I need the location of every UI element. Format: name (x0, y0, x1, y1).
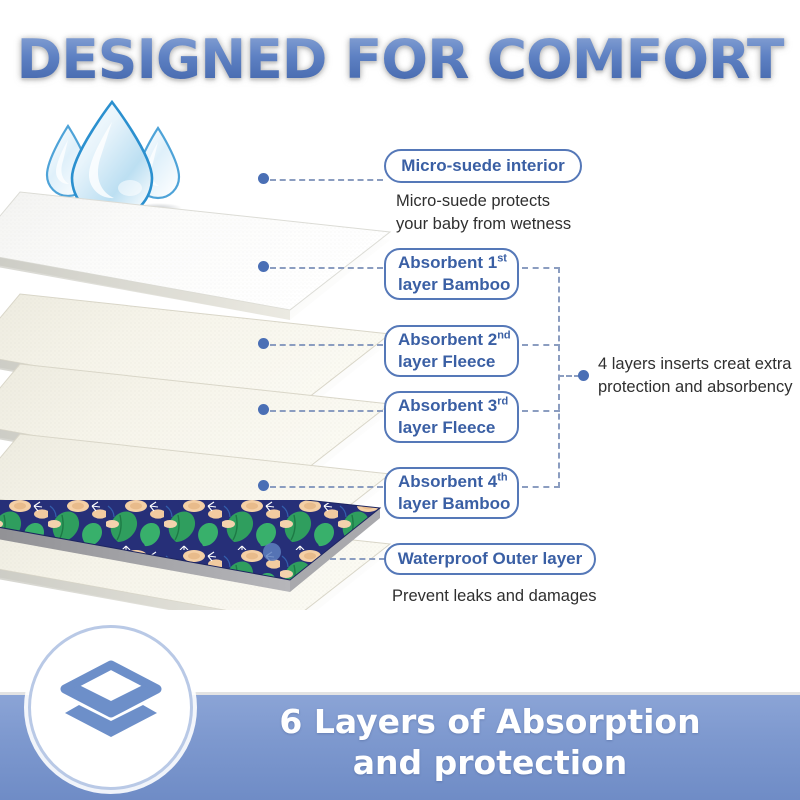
stacked-layers-icon (57, 657, 165, 758)
bracket-note-line1: 4 layers inserts creat extra (598, 353, 792, 376)
connector-line-absorbent-1 (270, 267, 383, 269)
label-absorbent-2-line2: layer Fleece (398, 352, 495, 371)
description-micro-suede-line2: your baby from wetness (396, 213, 571, 236)
connector-dot-absorbent-4 (258, 480, 269, 491)
bottom-banner-text: 6 Layers of Absorption and protection (190, 701, 790, 783)
label-absorbent-1-line1: Absorbent 1 (398, 253, 497, 272)
label-micro-suede-interior[interactable]: Micro-suede interior (384, 149, 582, 183)
label-absorbent-3[interactable]: Absorbent 3rd layer Fleece (384, 391, 519, 443)
label-absorbent-1[interactable]: Absorbent 1st layer Bamboo (384, 248, 519, 300)
label-absorbent-1-text: Absorbent 1st layer Bamboo (398, 252, 510, 296)
label-absorbent-4-line2: layer Bamboo (398, 494, 510, 513)
label-absorbent-4[interactable]: Absorbent 4th layer Bamboo (384, 467, 519, 519)
label-absorbent-3-ordinal: rd (497, 395, 508, 407)
description-micro-suede-line1: Micro-suede protects (396, 190, 571, 213)
label-absorbent-2-text: Absorbent 2nd layer Fleece (398, 329, 511, 373)
connector-line-micro-suede (270, 179, 383, 181)
label-absorbent-4-ordinal: th (497, 471, 507, 483)
label-absorbent-3-line1: Absorbent 3 (398, 396, 497, 415)
description-waterproof: Prevent leaks and damages (392, 585, 597, 608)
label-absorbent-3-line2: layer Fleece (398, 418, 495, 437)
connector-dot-absorbent-2 (258, 338, 269, 349)
connector-line-waterproof (330, 558, 385, 560)
connector-dot-absorbent-1 (258, 261, 269, 272)
label-waterproof-outer-layer-text: Waterproof Outer layer (398, 548, 583, 570)
label-absorbent-4-line1: Absorbent 4 (398, 472, 497, 491)
connector-dot-micro-suede (258, 173, 269, 184)
label-absorbent-4-text: Absorbent 4th layer Bamboo (398, 471, 510, 515)
bracket-stub-absorbent-2 (522, 344, 560, 346)
bracket-note: 4 layers inserts creat extra protection … (598, 353, 792, 399)
connector-line-absorbent-3 (270, 410, 383, 412)
waterproof-outer-layer-sheet (0, 500, 410, 610)
label-absorbent-1-ordinal: st (497, 252, 507, 264)
bracket-stub-absorbent-1 (522, 267, 560, 269)
bracket-vertical-absorbent-group (558, 267, 560, 488)
description-waterproof-line1: Prevent leaks and damages (392, 585, 597, 608)
label-absorbent-2[interactable]: Absorbent 2nd layer Fleece (384, 325, 519, 377)
label-absorbent-1-line2: layer Bamboo (398, 275, 510, 294)
connector-dot-bracket-note (578, 370, 589, 381)
bottom-banner-line2: and protection (190, 742, 790, 783)
bottom-banner-line1: 6 Layers of Absorption (190, 701, 790, 742)
page-title: DESIGNED FOR COMFORT (0, 28, 800, 91)
layers-badge (28, 625, 193, 790)
infographic-page: DESIGNED FOR COMFORT (0, 0, 800, 800)
bracket-stub-absorbent-3 (522, 410, 560, 412)
bracket-stub-note (558, 375, 580, 377)
connector-dot-absorbent-3 (258, 404, 269, 415)
label-absorbent-2-ordinal: nd (497, 329, 510, 341)
connector-line-absorbent-2 (270, 344, 383, 346)
bracket-note-line2: protection and absorbency (598, 376, 792, 399)
label-absorbent-3-text: Absorbent 3rd layer Fleece (398, 395, 508, 439)
description-micro-suede: Micro-suede protects your baby from wetn… (396, 190, 571, 236)
label-absorbent-2-line1: Absorbent 2 (398, 330, 497, 349)
label-micro-suede-interior-text: Micro-suede interior (401, 155, 564, 177)
label-waterproof-outer-layer[interactable]: Waterproof Outer layer (384, 543, 596, 575)
bracket-stub-absorbent-4 (522, 486, 560, 488)
connector-line-absorbent-4 (270, 486, 383, 488)
